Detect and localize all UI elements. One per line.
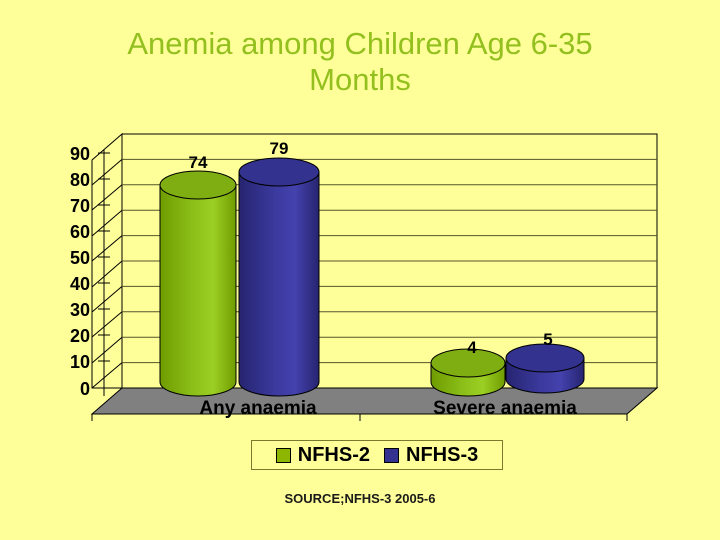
data-label-any-anaemia-nfhs3: 79 [259,139,299,159]
legend-swatch-nfhs-3 [384,448,399,463]
data-label-severe-anaemia-nfhs3: 5 [528,330,568,350]
y-axis-tick-80: 80 [48,170,90,191]
data-label-any-anaemia-nfhs2: 74 [178,153,218,173]
bar-severe-anaemia-nfhs3 [506,344,584,393]
y-axis-tick-20: 20 [48,326,90,347]
legend-label-nfhs-2: NFHS-2 [298,445,370,465]
y-axis-tick-90: 90 [48,144,90,165]
y-axis-tick-60: 60 [48,222,90,243]
legend-item-nfhs-2[interactable]: NFHS-2 [276,445,370,465]
chart-legend: NFHS-2 NFHS-3 [251,440,503,470]
y-axis-tick-10: 10 [48,352,90,373]
source-note: SOURCE;NFHS-3 2005-6 [0,491,720,506]
bar-any-anaemia-nfhs2 [160,171,236,396]
y-axis-tick-30: 30 [48,300,90,321]
legend-label-nfhs-3: NFHS-3 [406,445,478,465]
legend-item-nfhs-3[interactable]: NFHS-3 [384,445,478,465]
x-axis-category-any-anaemia: Any anaemia [128,398,388,420]
y-axis-tick-70: 70 [48,196,90,217]
y-axis-tick-50: 50 [48,248,90,269]
x-axis-category-severe-anaemia: Severe anaemia [372,398,638,420]
y-axis-tick-0: 0 [48,379,90,400]
bar-any-anaemia-nfhs3 [239,158,319,396]
y-axis-tick-40: 40 [48,274,90,295]
slide-canvas: Anemia among Children Age 6-35 Months [0,0,720,540]
data-label-severe-anaemia-nfhs2: 4 [452,338,492,358]
legend-swatch-nfhs-2 [276,448,291,463]
